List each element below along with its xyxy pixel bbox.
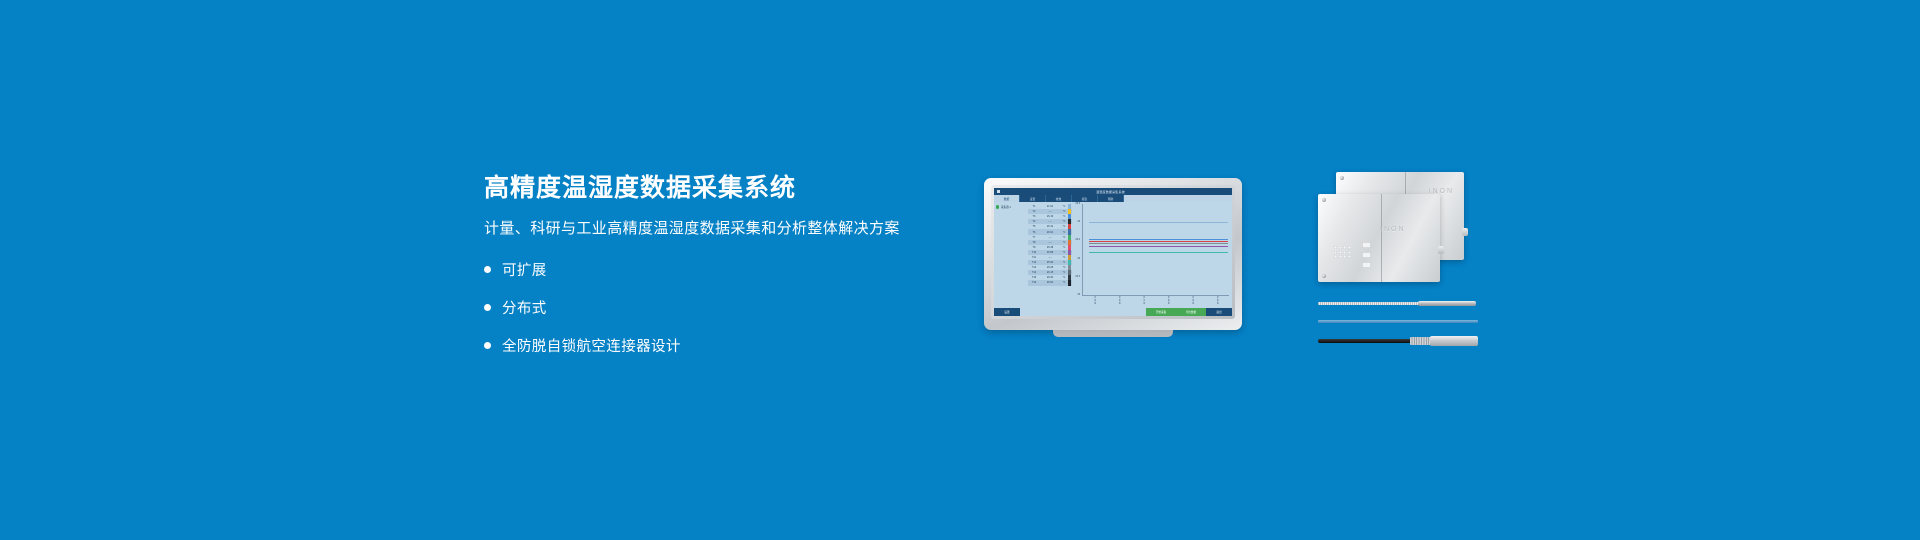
cell-channel: T9 bbox=[1028, 246, 1040, 249]
cell-channel: T12 bbox=[1028, 261, 1040, 264]
cell-unit: ℃ bbox=[1060, 276, 1068, 279]
chart-series-line bbox=[1089, 239, 1228, 240]
y-tick: 26 bbox=[1077, 221, 1080, 223]
y-tick: 26 bbox=[1077, 258, 1080, 260]
cell-channel: T2 bbox=[1028, 210, 1040, 213]
cell-value: ---- bbox=[1040, 241, 1060, 244]
cell-channel: T7 bbox=[1028, 236, 1040, 239]
connector-bank bbox=[1362, 242, 1371, 268]
cell-value: 25.90 bbox=[1040, 261, 1060, 264]
bullet-dot-icon bbox=[484, 342, 491, 349]
tab-data[interactable]: 数据 bbox=[994, 195, 1020, 202]
device-sidebar: 采集器-1 bbox=[994, 202, 1028, 308]
cell-unit: ℃ bbox=[1060, 236, 1068, 239]
cell-channel: T6 bbox=[1028, 231, 1040, 234]
cell-value: 26.19 bbox=[1040, 215, 1060, 218]
monitor-inner-rim: 温湿度数据采集系统 数据 设置 校准 报表 帮助 bbox=[991, 185, 1235, 319]
software-title: 温湿度数据采集系统 bbox=[998, 190, 1223, 194]
cell-unit: ℃ bbox=[1060, 281, 1068, 284]
software-tab-bar: 数据 设置 校准 报表 帮助 bbox=[994, 195, 1232, 202]
datalogger-product-images: INON INON bbox=[1318, 172, 1473, 296]
x-tick: 14:27:30 bbox=[1142, 296, 1144, 308]
cell-unit: ℃ bbox=[1060, 266, 1068, 269]
series-color-swatch bbox=[1068, 280, 1071, 285]
feature-label: 全防脱自锁航空连接器设计 bbox=[502, 335, 681, 356]
cell-channel: T14 bbox=[1028, 271, 1040, 274]
cell-unit: ℃ bbox=[1060, 246, 1068, 249]
probe-tip bbox=[1418, 301, 1476, 306]
cell-value: ---- bbox=[1040, 256, 1060, 259]
monitor-product-image: 温湿度数据采集系统 数据 设置 校准 报表 帮助 bbox=[984, 178, 1242, 330]
cell-unit: ℃ bbox=[1060, 225, 1068, 228]
trend-chart: 26.5 26 26.0 26 25.5 25 14:25:30 14:26:0… bbox=[1072, 202, 1232, 308]
monitor-bezel: 温湿度数据采集系统 数据 设置 校准 报表 帮助 bbox=[984, 178, 1242, 330]
blue-sensor-cable bbox=[1318, 318, 1478, 324]
cell-value: 26.12 bbox=[1040, 225, 1060, 228]
sidebar-item-device[interactable]: 采集器-1 bbox=[996, 205, 1026, 209]
cell-value: 26.90 bbox=[1040, 276, 1060, 279]
cell-value: 26.28 bbox=[1040, 266, 1060, 269]
device-label: 采集器-1 bbox=[1001, 205, 1011, 209]
chart-y-axis: 26.5 26 26.0 26 25.5 25 bbox=[1072, 202, 1081, 296]
chart-x-axis: 14:25:30 14:26:00 14:27:30 14:28:00 14:2… bbox=[1082, 296, 1229, 308]
hero-copy: 高精度温湿度数据采集系统 计量、科研与工业高精度温湿度数据采集和分析整体解决方案… bbox=[484, 175, 954, 356]
x-tick: 14:30:00 bbox=[1216, 296, 1218, 308]
channel-table: T1 21.91 ℃ T2 ---- ℃ bbox=[1028, 202, 1072, 308]
x-tick: 14:26:00 bbox=[1118, 296, 1120, 308]
cell-value: 26.61 bbox=[1040, 231, 1060, 234]
cell-channel: T1 bbox=[1028, 205, 1040, 208]
start-acquisition-button[interactable]: 开始采集 bbox=[1146, 308, 1176, 316]
feature-label: 分布式 bbox=[502, 297, 547, 318]
probe-shaft bbox=[1318, 302, 1426, 305]
cell-channel: T15 bbox=[1028, 276, 1040, 279]
cell-value: 26.38 bbox=[1040, 246, 1060, 249]
cell-unit: ℃ bbox=[1060, 205, 1068, 208]
chart-series-line bbox=[1089, 222, 1228, 223]
sensor-probe-images bbox=[1318, 300, 1478, 360]
tab-help[interactable]: 帮助 bbox=[1098, 195, 1124, 202]
cell-value: 26.94 bbox=[1040, 281, 1060, 284]
cell-unit: ℃ bbox=[1060, 271, 1068, 274]
chart-series-line bbox=[1089, 241, 1228, 242]
tab-settings[interactable]: 设置 bbox=[1020, 195, 1046, 202]
table-row: T16 26.94 ℃ bbox=[1028, 280, 1072, 285]
cell-channel: T3 bbox=[1028, 215, 1040, 218]
x-tick: 14:28:00 bbox=[1167, 296, 1169, 308]
chart-series-line bbox=[1089, 246, 1228, 247]
cell-unit: ℃ bbox=[1060, 215, 1068, 218]
page-subtitle: 计量、科研与工业高精度温湿度数据采集和分析整体解决方案 bbox=[484, 220, 954, 238]
feature-item: 全防脱自锁航空连接器设计 bbox=[484, 335, 954, 356]
cell-channel: T11 bbox=[1028, 256, 1040, 259]
software-title-bar: 温湿度数据采集系统 bbox=[994, 188, 1232, 195]
cable-ferrule bbox=[1410, 337, 1432, 345]
cell-channel: T13 bbox=[1028, 266, 1040, 269]
software-footer: 设置 开始采集 导出数据 退出 bbox=[994, 308, 1232, 316]
armored-temperature-probe bbox=[1318, 300, 1478, 307]
tab-report[interactable]: 报表 bbox=[1072, 195, 1098, 202]
y-tick: 26.5 bbox=[1076, 203, 1080, 205]
y-tick: 25 bbox=[1077, 294, 1080, 296]
cell-unit: ℃ bbox=[1060, 231, 1068, 234]
chart-series-line bbox=[1089, 243, 1228, 244]
cell-value: 26.88 bbox=[1040, 251, 1060, 254]
cable-body bbox=[1318, 320, 1478, 323]
screw-icon bbox=[1322, 274, 1326, 278]
settings-button[interactable]: 设置 bbox=[994, 308, 1020, 316]
y-tick: 25.5 bbox=[1076, 276, 1080, 278]
export-data-button[interactable]: 导出数据 bbox=[1176, 308, 1206, 316]
status-online-icon bbox=[996, 205, 999, 208]
tab-calibration[interactable]: 校准 bbox=[1046, 195, 1072, 202]
cell-unit: ℃ bbox=[1060, 256, 1068, 259]
enclosure-front-unit: INON bbox=[1318, 194, 1440, 282]
cell-unit: ℃ bbox=[1060, 251, 1068, 254]
cell-channel: T16 bbox=[1028, 281, 1040, 284]
cell-channel: T10 bbox=[1028, 251, 1040, 254]
cell-unit: ℃ bbox=[1060, 261, 1068, 264]
cell-channel: T4 bbox=[1028, 220, 1040, 223]
black-cable-humidity-probe bbox=[1318, 334, 1478, 350]
software-body: 采集器-1 T1 21.91 ℃ T2 bbox=[994, 202, 1232, 308]
footer-spacer bbox=[1020, 308, 1146, 316]
bullet-dot-icon bbox=[484, 266, 491, 273]
probe-barrel bbox=[1430, 336, 1478, 346]
page-title: 高精度温湿度数据采集系统 bbox=[484, 175, 954, 203]
feature-list: 可扩展 分布式 全防脱自锁航空连接器设计 bbox=[484, 259, 954, 356]
cell-channel: T5 bbox=[1028, 225, 1040, 228]
cell-value: 26.15 bbox=[1040, 271, 1060, 274]
screw-icon bbox=[1340, 176, 1344, 180]
chart-series-line bbox=[1089, 252, 1228, 253]
feature-item: 可扩展 bbox=[484, 259, 954, 280]
cell-value: ---- bbox=[1040, 210, 1060, 213]
cell-unit: ℃ bbox=[1060, 210, 1068, 213]
y-tick: 26.0 bbox=[1076, 239, 1080, 241]
x-tick: 14:25:30 bbox=[1093, 296, 1095, 308]
cell-unit: ℃ bbox=[1060, 241, 1068, 244]
x-tick: 14:29:30 bbox=[1191, 296, 1193, 308]
exit-button[interactable]: 退出 bbox=[1206, 308, 1232, 316]
brand-label: INON bbox=[1380, 226, 1406, 233]
feature-item: 分布式 bbox=[484, 297, 954, 318]
cell-channel: T8 bbox=[1028, 241, 1040, 244]
connector-port bbox=[1438, 246, 1444, 254]
cell-value: 21.91 bbox=[1040, 205, 1060, 208]
screw-icon bbox=[1322, 198, 1326, 202]
connector-port bbox=[1462, 228, 1468, 236]
bullet-dot-icon bbox=[484, 304, 491, 311]
feature-label: 可扩展 bbox=[502, 259, 547, 280]
cell-unit: ℃ bbox=[1060, 220, 1068, 223]
tab-bar-filler bbox=[1124, 195, 1232, 202]
cable-body bbox=[1318, 339, 1414, 343]
cell-value: ---- bbox=[1040, 236, 1060, 239]
chart-plot-area bbox=[1082, 204, 1229, 296]
terminal-grid bbox=[1334, 246, 1351, 258]
monitor-screen: 温湿度数据采集系统 数据 设置 校准 报表 帮助 bbox=[994, 188, 1232, 316]
cell-value: ---- bbox=[1040, 220, 1060, 223]
hero-banner: 高精度温湿度数据采集系统 计量、科研与工业高精度温湿度数据采集和分析整体解决方案… bbox=[0, 0, 1920, 540]
